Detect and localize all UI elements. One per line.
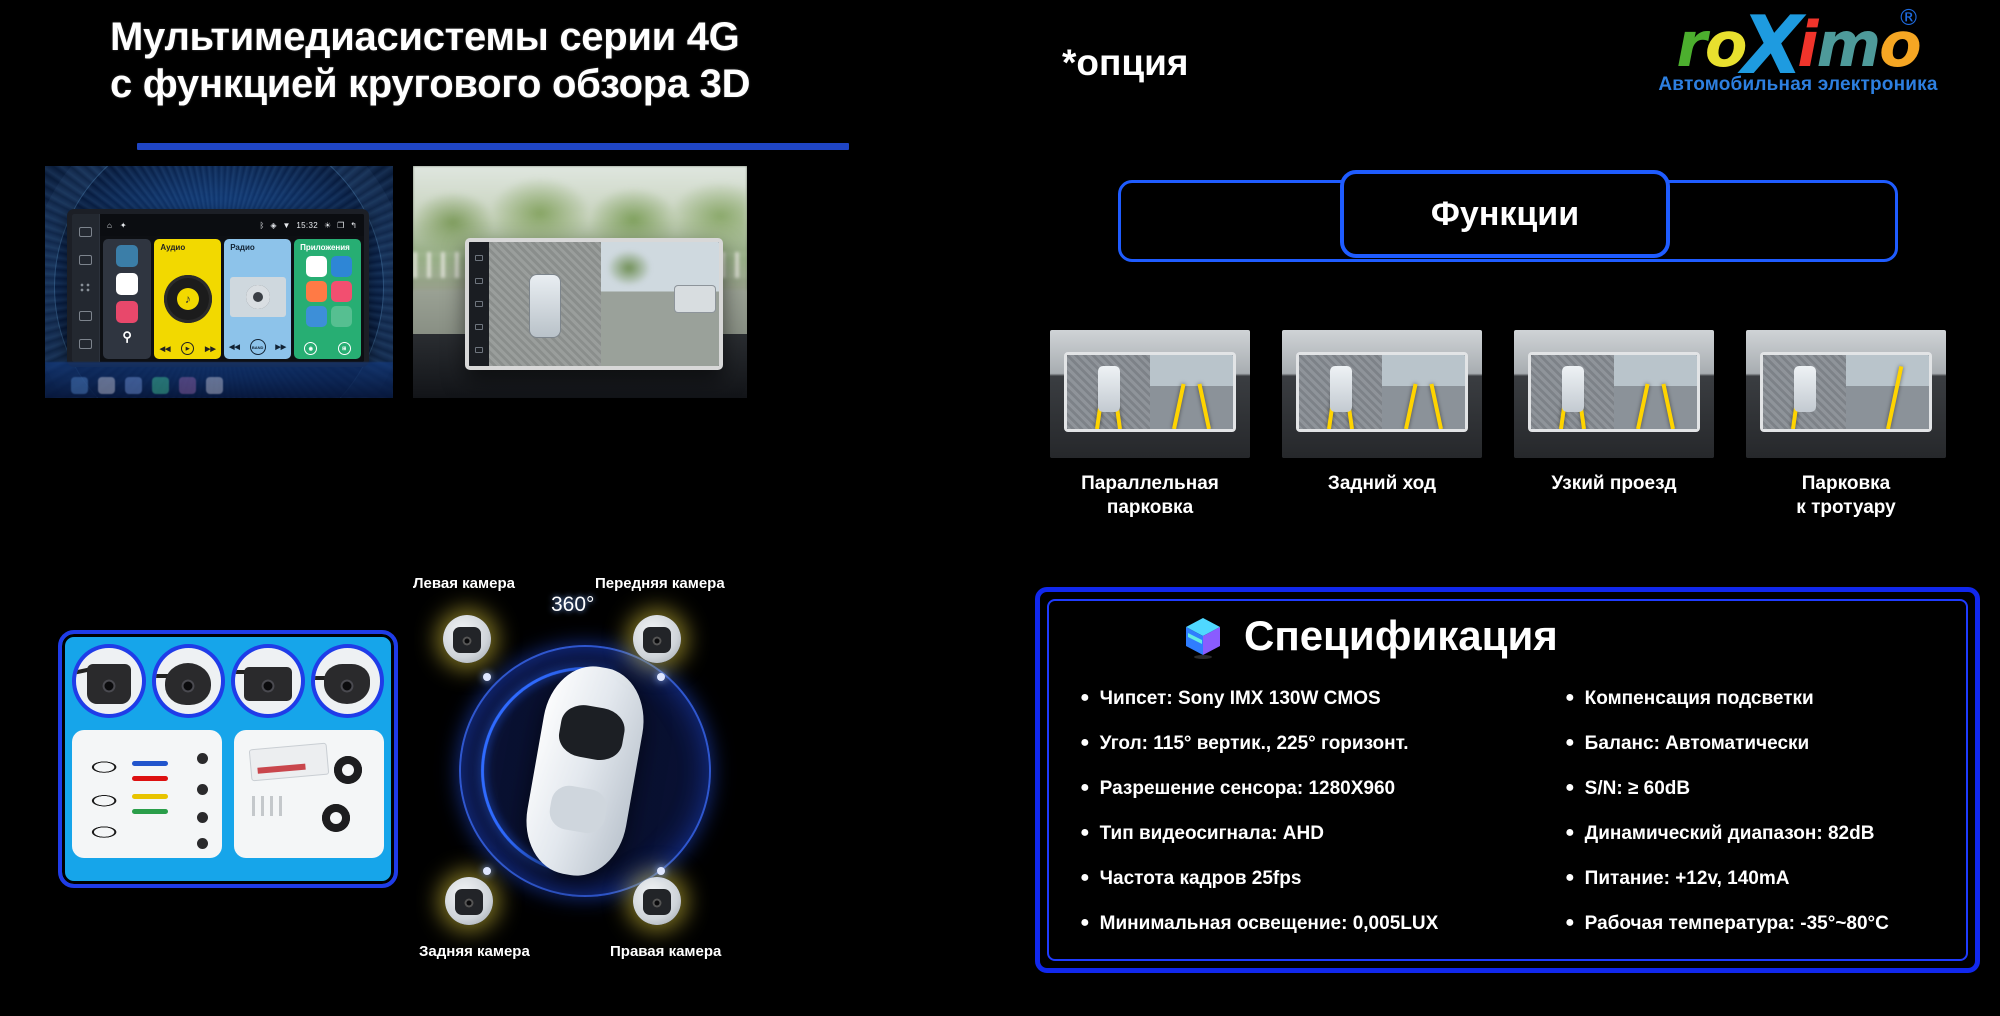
- next-track-icon[interactable]: ▶▶: [205, 345, 216, 353]
- band-button[interactable]: BAND: [250, 339, 266, 355]
- bullet-icon: ●: [1080, 913, 1090, 933]
- reflected-app-icon: [179, 377, 196, 394]
- function-thumbnail: [1514, 330, 1714, 458]
- parking-guideline: [1198, 384, 1211, 430]
- logo-letter-o1: o: [1705, 14, 1746, 76]
- logo-letter-r: r: [1676, 14, 1705, 76]
- apps-grid-icon: [475, 301, 483, 307]
- birds-eye-view: [1067, 355, 1150, 429]
- spec-item: ●Компенсация подсветки: [1565, 688, 1960, 710]
- screen: [1760, 352, 1932, 432]
- function-item-curb-parking[interactable]: Парковка к тротуару: [1746, 330, 1946, 520]
- label-right-camera: Правая камера: [610, 943, 721, 960]
- spec-item-text: Компенсация подсветки: [1585, 688, 1814, 710]
- reflected-app-icon: [71, 377, 88, 394]
- camera-lens-icon: [643, 627, 671, 653]
- side-camera-view: [601, 242, 719, 366]
- spec-item-text: Чипсет: Sony IMX 130W CMOS: [1100, 688, 1381, 710]
- camera-kit-panel: [58, 630, 398, 888]
- camera-plug: [197, 784, 208, 795]
- function-item-parallel-parking[interactable]: Параллельная парковка: [1050, 330, 1250, 520]
- poster-root: Мультимедиасистемы серии 4G с функцией к…: [0, 0, 2000, 1016]
- bullet-icon: ●: [1080, 823, 1090, 843]
- parking-guideline: [1791, 383, 1801, 429]
- rubber-grommet: [322, 804, 350, 832]
- rca-connector-green: [132, 809, 168, 814]
- card-apps[interactable]: Приложения ◉ ⊞: [294, 239, 361, 359]
- title-underline: [137, 143, 849, 150]
- rear-camera-icon: [445, 877, 493, 925]
- parking-guideline: [1886, 366, 1903, 429]
- function-label-line2: к тротуару: [1746, 496, 1946, 520]
- bullet-icon: ●: [1565, 868, 1575, 888]
- functions-title: Функции: [1431, 195, 1579, 234]
- brand-logo: roXimo ® Автомобильная электроника: [1612, 8, 1984, 96]
- bullet-icon: ●: [1080, 778, 1090, 798]
- page-title: Мультимедиасистемы серии 4G с функцией к…: [110, 14, 750, 108]
- spec-item-text: Динамический диапазон: 82dB: [1585, 823, 1875, 845]
- function-thumbnail: [1282, 330, 1482, 458]
- reflected-app-icon: [206, 377, 223, 394]
- card-audio-label: Аудио: [160, 243, 185, 252]
- equalizer-icon[interactable]: [306, 306, 327, 327]
- left-camera-icon: [443, 615, 491, 663]
- card-radio-label: Радио: [230, 243, 255, 252]
- birds-eye-view: [1763, 355, 1846, 429]
- in-car-head-unit: [465, 238, 723, 370]
- wiring-harness-photo: [72, 730, 222, 858]
- logo-letter-x: X: [1742, 15, 1802, 77]
- camera-plug: [197, 812, 208, 823]
- spec-item: ●Чипсет: Sony IMX 130W CMOS: [1080, 688, 1475, 710]
- parking-guideline: [1111, 383, 1121, 429]
- registered-trademark-icon: ®: [1898, 8, 1918, 30]
- next-station-icon[interactable]: ▶▶: [275, 343, 286, 351]
- page-title-line1: Мультимедиасистемы серии 4G: [110, 14, 750, 61]
- mute-icon: [475, 347, 483, 353]
- camera-plug: [197, 753, 208, 764]
- clock: 15:32: [296, 221, 318, 230]
- spec-item-text: Частота кадров 25fps: [1100, 868, 1302, 890]
- card-apps-label: Приложения: [300, 243, 350, 252]
- spec-item: ●Минимальная освещение: 0,005LUX: [1080, 913, 1475, 935]
- camera-lens-icon: [261, 680, 274, 693]
- functions-grid: Параллельная парковка: [1050, 330, 1970, 520]
- function-thumbnail: [1746, 330, 1946, 458]
- spec-item: ●Тип видеосигнала: AHD: [1080, 823, 1475, 845]
- camera-lens-icon: [643, 889, 671, 915]
- settings-icon[interactable]: ◉: [304, 342, 317, 355]
- function-label: Параллельная парковка: [1050, 472, 1250, 520]
- menu-icon: [475, 278, 483, 284]
- connection-node: [657, 867, 665, 875]
- specification-column-left: ●Чипсет: Sony IMX 130W CMOS ●Угол: 115° …: [1080, 688, 1475, 958]
- media-player-icon[interactable]: [306, 256, 327, 277]
- birds-eye-view: [489, 242, 601, 366]
- specification-header: Спецификация: [1180, 612, 1558, 660]
- camera-plug: [197, 838, 208, 849]
- bullet-icon: ●: [1565, 823, 1575, 843]
- reflected-app-icon: [152, 377, 169, 394]
- rca-connector-yellow: [132, 794, 168, 799]
- connection-node: [657, 673, 665, 681]
- parking-guideline: [1430, 384, 1443, 430]
- accessory-photo-row: [72, 730, 384, 858]
- bullet-icon: ●: [1565, 688, 1575, 708]
- menu-icon: [79, 255, 92, 265]
- connection-node: [483, 867, 491, 875]
- bluetooth-icon[interactable]: [331, 256, 352, 277]
- paint-icon[interactable]: [331, 281, 352, 302]
- camera-lens-icon: [182, 680, 195, 693]
- apps-grid-icon: [79, 283, 92, 293]
- home-icon[interactable]: ⌂: [107, 221, 112, 230]
- parking-guideline: [1662, 384, 1675, 430]
- screen: [1296, 352, 1468, 432]
- front-camera-view: [1614, 355, 1697, 429]
- bullet-icon: ●: [1080, 688, 1090, 708]
- bluetooth-icon: ᛒ: [260, 221, 265, 230]
- specification-column-right: ●Компенсация подсветки ●Баланс: Автомати…: [1525, 688, 1960, 958]
- volume-icon: [475, 324, 483, 330]
- head-unit-device: ⌂ ✦ ᛒ ◈ ▼ 15:32 ☀ ❐ ↰: [67, 209, 369, 367]
- rear-camera-view: [1150, 355, 1233, 429]
- parking-guideline: [1343, 383, 1353, 429]
- head-unit-product-photo: ⌂ ✦ ᛒ ◈ ▼ 15:32 ☀ ❐ ↰: [45, 166, 393, 398]
- home-cards: ⚲ Аудио ♪ ◀◀ ▶ ▶▶ Радио: [100, 236, 364, 362]
- parking-guideline: [1559, 383, 1569, 429]
- volume-icon: [79, 311, 92, 321]
- camera-lens-icon: [341, 680, 354, 693]
- right-camera-icon: [633, 877, 681, 925]
- screen: [1064, 352, 1236, 432]
- mounting-accessories-photo: [234, 730, 384, 858]
- spec-item: ●Баланс: Автоматически: [1565, 733, 1960, 755]
- power-icon: [475, 255, 483, 261]
- spec-item-text: S/N: ≥ 60dB: [1585, 778, 1690, 800]
- logo-letter-m: m: [1816, 14, 1879, 76]
- functions-header: Функции: [1340, 170, 1670, 258]
- mail-icon[interactable]: [116, 301, 138, 323]
- front-camera-icon: [633, 615, 681, 663]
- spec-item-text: Баланс: Автоматически: [1585, 733, 1810, 755]
- radio-controls[interactable]: ◀◀ BAND ▶▶: [224, 339, 291, 355]
- birds-eye-view: [1299, 355, 1382, 429]
- reflected-app-icon: [125, 377, 142, 394]
- parking-guideline: [1636, 384, 1649, 430]
- function-thumbnail: [1050, 330, 1250, 458]
- camera-front-photo: [72, 644, 146, 718]
- apps-bottom-controls[interactable]: ◉ ⊞: [294, 342, 361, 355]
- bullet-icon: ●: [1565, 733, 1575, 753]
- spec-item: ●Питание: +12v, 140mA: [1565, 868, 1960, 890]
- function-label: Задний ход: [1282, 472, 1482, 496]
- function-label: Парковка к тротуару: [1746, 472, 1946, 520]
- function-label-line1: Узкий проезд: [1514, 472, 1714, 496]
- camera-lens-icon: [453, 627, 481, 653]
- page-title-line2: с функцией кругового обзора 3D: [110, 61, 750, 108]
- power-icon: [79, 227, 92, 237]
- card-radio[interactable]: Радио ◀◀ BAND ▶▶: [224, 239, 291, 359]
- brightness-icon[interactable]: ☀: [324, 221, 331, 230]
- spec-item-text: Минимальная освещение: 0,005LUX: [1100, 913, 1439, 935]
- function-item-reverse[interactable]: Задний ход: [1282, 330, 1482, 520]
- recent-apps-icon[interactable]: ❐: [337, 221, 344, 230]
- spec-item-text: Рабочая температура: -35°~80°C: [1585, 913, 1889, 935]
- turntable-icon: [230, 277, 286, 317]
- bullet-icon: ●: [1080, 733, 1090, 753]
- add-icon[interactable]: [331, 306, 352, 327]
- spec-item-text: Тип видеосигнала: AHD: [1100, 823, 1324, 845]
- parking-guideline: [1327, 383, 1337, 429]
- wifi-icon: ▼: [283, 221, 291, 230]
- back-icon[interactable]: ↰: [350, 221, 357, 230]
- gps-icon: ◈: [270, 221, 276, 230]
- side-camera-view: [1846, 355, 1929, 429]
- rca-connector-blue: [132, 761, 168, 766]
- camera-side-photo: [152, 644, 226, 718]
- specification-title: Спецификация: [1244, 612, 1558, 660]
- function-item-narrow-passage[interactable]: Узкий проезд: [1514, 330, 1714, 520]
- location-pin-icon[interactable]: ✦: [120, 221, 127, 230]
- spec-item: ●Разрешение сенсора: 1280X960: [1080, 778, 1475, 800]
- play-icon[interactable]: ▶: [181, 342, 194, 355]
- status-bar-right: ᛒ ◈ ▼ 15:32 ☀ ❐ ↰: [260, 221, 357, 230]
- spec-item: ●Динамический диапазон: 82dB: [1565, 823, 1960, 845]
- camera-lens-icon: [455, 889, 483, 915]
- camera-mirror-photo: [311, 644, 385, 718]
- specification-columns: ●Чипсет: Sony IMX 130W CMOS ●Угол: 115° …: [1080, 688, 1960, 958]
- function-label-line2: парковка: [1050, 496, 1250, 520]
- camera-photo-row: [72, 644, 384, 718]
- spec-item-text: Разрешение сенсора: 1280X960: [1100, 778, 1395, 800]
- product-box: [249, 743, 329, 782]
- cube-3d-icon: [1180, 613, 1226, 659]
- surround-view-display: [489, 242, 719, 366]
- music-icon[interactable]: [306, 281, 327, 302]
- status-bar: ⌂ ✦ ᛒ ◈ ▼ 15:32 ☀ ❐ ↰: [100, 214, 364, 236]
- card-audio[interactable]: Аудио ♪ ◀◀ ▶ ▶▶: [154, 239, 221, 359]
- degree-label: 360°: [551, 593, 594, 617]
- head-unit-side-buttons: [469, 242, 489, 366]
- play-store-icon[interactable]: [116, 273, 138, 295]
- rear-camera-view: [1382, 355, 1465, 429]
- parking-guideline: [1095, 383, 1105, 429]
- screen-reflection: [45, 362, 393, 398]
- music-note-icon: ♪: [177, 288, 199, 310]
- reflected-app-icon: [98, 377, 115, 394]
- car-360-view-photo: [413, 166, 747, 398]
- settings-icon[interactable]: [116, 245, 138, 267]
- rca-connector-red: [132, 776, 168, 781]
- connection-node: [483, 673, 491, 681]
- optional-note: *опция: [1062, 42, 1188, 84]
- label-left-camera: Левая камера: [413, 575, 515, 592]
- mute-icon: [79, 339, 92, 349]
- function-label-line1: Парковка: [1746, 472, 1946, 496]
- parking-guideline: [1404, 384, 1417, 430]
- function-label-line1: Задний ход: [1282, 472, 1482, 496]
- bullet-icon: ●: [1080, 868, 1090, 888]
- camera-rear-photo: [231, 644, 305, 718]
- apps-tile-grid: [300, 256, 355, 327]
- camera-lens-icon: [102, 680, 115, 693]
- prev-station-icon[interactable]: ◀◀: [229, 343, 240, 351]
- bullet-icon: ●: [1565, 913, 1575, 933]
- status-bar-left: ⌂ ✦: [107, 221, 127, 230]
- spec-item: ●Рабочая температура: -35°~80°C: [1565, 913, 1960, 935]
- spec-item: ●Частота кадров 25fps: [1080, 868, 1475, 890]
- quick-app-column: ⚲: [103, 239, 151, 359]
- navigation-icon[interactable]: ⚲: [116, 329, 138, 351]
- prev-track-icon[interactable]: ◀◀: [160, 345, 171, 353]
- logo-wordmark: roXimo ®: [1676, 8, 1919, 76]
- vinyl-disc-icon: ♪: [164, 275, 212, 323]
- parking-guideline: [1172, 384, 1185, 430]
- spec-item-text: Питание: +12v, 140mA: [1585, 868, 1790, 890]
- bullet-icon: ●: [1565, 778, 1575, 798]
- label-rear-camera: Задняя камера: [419, 943, 530, 960]
- spec-item: ●S/N: ≥ 60dB: [1565, 778, 1960, 800]
- birds-eye-view: [1531, 355, 1614, 429]
- label-front-camera: Передняя камера: [595, 575, 725, 592]
- audio-transport-controls[interactable]: ◀◀ ▶ ▶▶: [154, 342, 221, 355]
- screen: [1528, 352, 1700, 432]
- spec-item: ●Угол: 115° вертик., 225° горизонт.: [1080, 733, 1475, 755]
- all-apps-icon[interactable]: ⊞: [338, 342, 351, 355]
- head-unit-side-buttons: [72, 214, 100, 362]
- head-unit-display: ⌂ ✦ ᛒ ◈ ▼ 15:32 ☀ ❐ ↰: [100, 214, 364, 362]
- screws-bag: [252, 796, 286, 816]
- parking-guideline: [1575, 383, 1585, 429]
- camera-layout-diagram: Левая камера Передняя камера Задняя каме…: [405, 575, 765, 975]
- title-underline-bar: [137, 143, 849, 150]
- function-label: Узкий проезд: [1514, 472, 1714, 496]
- spec-item-text: Угол: 115° вертик., 225° горизонт.: [1100, 733, 1409, 755]
- turntable-platter-icon: [246, 285, 270, 309]
- function-label-line1: Параллельная: [1050, 472, 1250, 496]
- rubber-grommet: [334, 756, 362, 784]
